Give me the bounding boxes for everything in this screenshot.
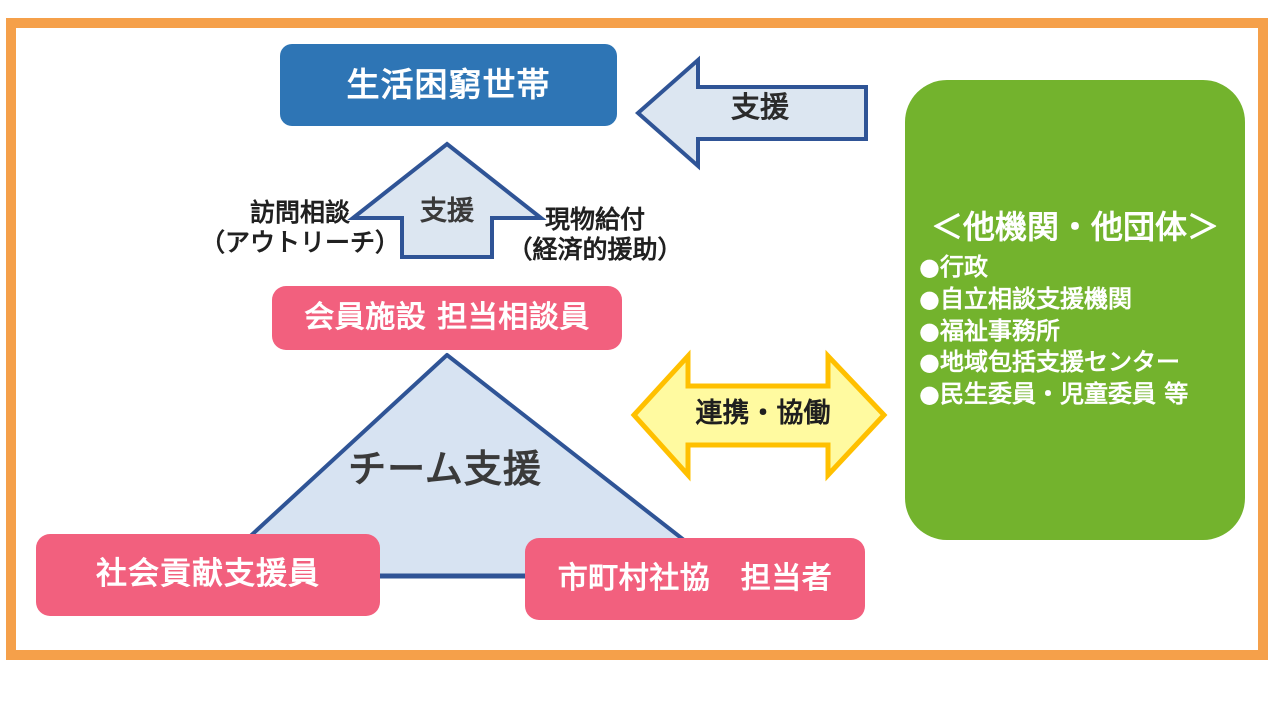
panel-item-welfare-commissioner: ●民生委員・児童委員 等 [919,379,1188,411]
label-arrow-left-support: 支援 [700,90,820,125]
panel-item-community-support-center: ●地域包括支援センター [919,347,1180,379]
label-outreach-consultation: 訪問相談 （アウトリーチ） [200,198,400,258]
panel-item-independent-support-agency: ●自立相談支援機関 [919,284,1132,316]
panel-item-welfare-office: ●福祉事務所 [919,316,1060,348]
panel-title: ＜他機関・他団体＞ [919,209,1231,246]
node-social-contribution-supporter[interactable]: 社会貢献支援員 [36,534,380,616]
node-household-in-need[interactable]: 生活困窮世帯 [280,44,617,126]
diagram-canvas: 生活困窮世帯 会員施設 担当相談員 社会貢献支援員 市町村社協 担当者 ＜他機関… [0,0,1280,720]
label-arrow-collaboration: 連携・協働 [663,398,863,430]
label-in-kind-benefit: 現物給付 （経済的援助） [495,205,695,265]
panel-other-organizations[interactable]: ＜他機関・他団体＞ ●行政 ●自立相談支援機関 ●福祉事務所 ●地域包括支援セン… [905,80,1245,540]
node-municipal-council-staff[interactable]: 市町村社協 担当者 [525,538,865,620]
label-arrow-up-support: 支援 [395,196,499,228]
node-member-facility-counselor[interactable]: 会員施設 担当相談員 [272,286,622,350]
panel-item-administration: ●行政 [919,252,988,284]
label-team-support: チーム支援 [320,447,570,493]
